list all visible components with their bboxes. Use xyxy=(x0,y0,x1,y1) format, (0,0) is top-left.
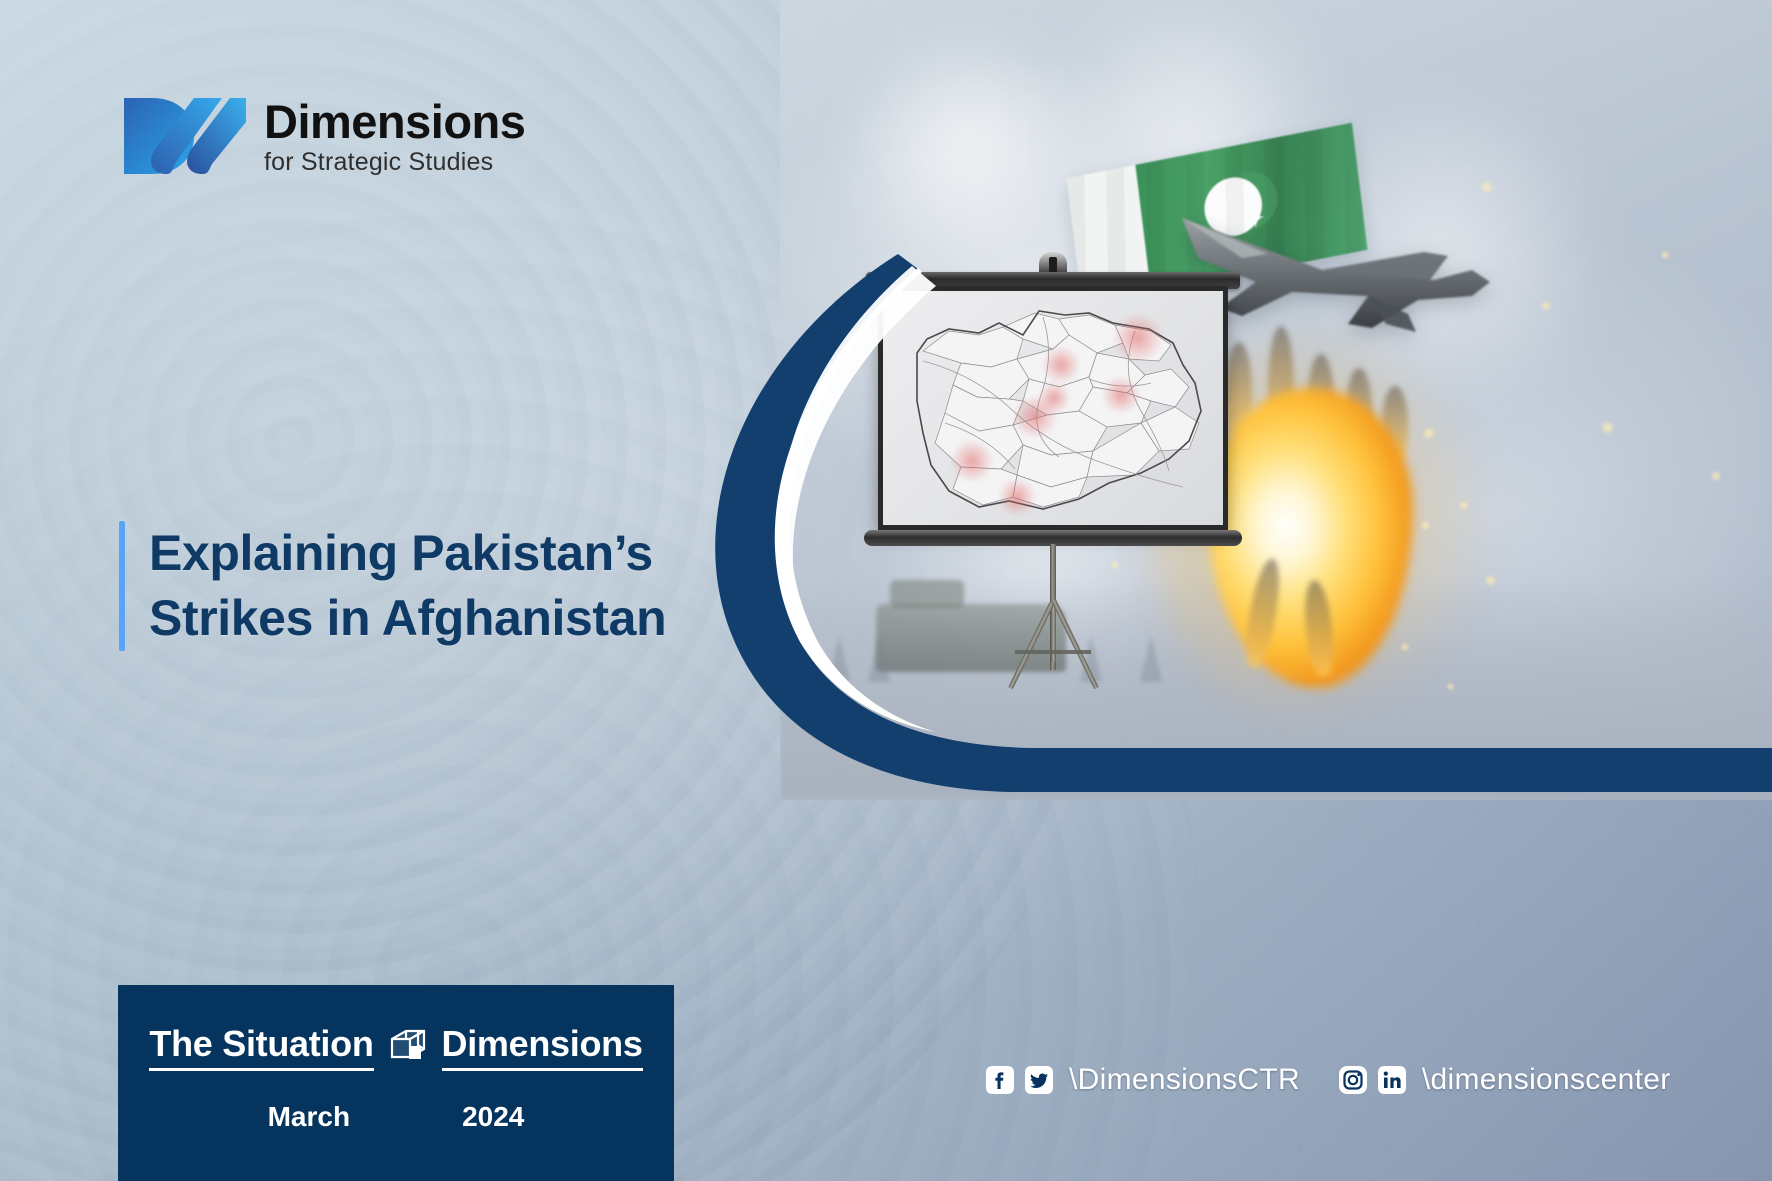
strike-heat-marker xyxy=(997,479,1037,515)
ember-spark xyxy=(1110,560,1120,570)
series-right-label: Dimensions xyxy=(442,1023,643,1071)
headline-block: Explaining Pakistan’s Strikes in Afghani… xyxy=(119,521,666,651)
publication-month: March xyxy=(268,1101,350,1133)
brand-logo[interactable]: Dimensions for Strategic Studies xyxy=(118,92,525,180)
ember-spark xyxy=(1710,470,1722,482)
facebook-icon[interactable] xyxy=(985,1065,1015,1095)
linkedin-icon[interactable] xyxy=(1377,1065,1407,1095)
cube-icon xyxy=(386,1025,430,1069)
ember-spark xyxy=(1458,500,1469,511)
headline-accent-bar xyxy=(119,521,125,651)
screen-frame xyxy=(878,286,1228,530)
ember-spark xyxy=(1420,520,1431,531)
ember-spark xyxy=(1446,682,1455,691)
strike-heat-marker xyxy=(1101,377,1141,413)
ember-spark xyxy=(1660,250,1670,260)
tree-silhouette xyxy=(868,636,890,682)
brand-logo-text: Dimensions for Strategic Studies xyxy=(264,98,525,175)
instagram-icon[interactable] xyxy=(1338,1065,1368,1095)
ember-spark xyxy=(1484,574,1497,587)
strike-heat-marker xyxy=(1111,315,1165,361)
projector-screen xyxy=(878,278,1228,538)
page-title: Explaining Pakistan’s Strikes in Afghani… xyxy=(149,521,666,651)
series-left-label: The Situation xyxy=(149,1023,373,1071)
ember-spark xyxy=(1600,420,1615,435)
screen-hook xyxy=(1039,252,1067,274)
series-title-row: The Situation Dimensions xyxy=(118,1023,674,1071)
social-bar: \DimensionsCTR \dimensionscenter xyxy=(985,1063,1696,1097)
map-canvas xyxy=(883,291,1223,525)
dss-monogram-icon xyxy=(118,92,246,180)
brand-name: Dimensions xyxy=(264,98,525,145)
publication-date: March 2024 xyxy=(118,1101,674,1133)
headline-line-1: Explaining Pakistan’s xyxy=(149,521,666,586)
strike-heat-marker xyxy=(1041,347,1081,383)
ember-spark xyxy=(1480,180,1494,194)
social-handle-center[interactable]: \dimensionscenter xyxy=(1422,1063,1671,1097)
social-group-center: \dimensionscenter xyxy=(1338,1063,1697,1097)
social-handle-ctr[interactable]: \DimensionsCTR xyxy=(1069,1063,1300,1097)
strike-heat-marker xyxy=(949,441,995,481)
poster-canvas: ✦ xyxy=(0,0,1772,1181)
series-info-box: The Situation Dimensions March 2024 xyxy=(118,985,674,1181)
headline-line-2: Strikes in Afghanistan xyxy=(149,586,666,651)
strike-heat-marker xyxy=(1037,383,1071,413)
ember-spark xyxy=(1422,426,1436,440)
ember-spark xyxy=(1400,642,1410,652)
social-group-ctr: \DimensionsCTR xyxy=(985,1063,1326,1097)
tripod-crossbar xyxy=(1015,650,1091,654)
publication-year: 2024 xyxy=(462,1101,524,1133)
explosion-blast-icon xyxy=(1190,330,1520,730)
twitter-icon[interactable] xyxy=(1024,1065,1054,1095)
tree-silhouette xyxy=(828,636,850,682)
brand-tagline: for Strategic Studies xyxy=(264,150,525,175)
ember-spark xyxy=(1540,300,1552,312)
photo-composition: ✦ xyxy=(780,0,1772,800)
tree-silhouette xyxy=(1140,636,1162,682)
